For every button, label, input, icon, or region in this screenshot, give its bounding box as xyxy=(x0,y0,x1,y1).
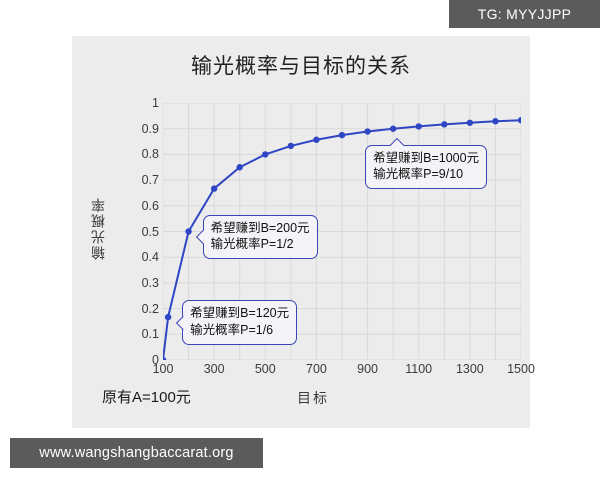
annotation-line-2: 输光概率P=9/10 xyxy=(373,166,479,183)
annotation-callout-b1000: 希望赚到B=1000元 输光概率P=9/10 xyxy=(365,145,487,190)
y-axis-tick-labels: 00.10.20.30.40.50.60.70.80.91 xyxy=(123,103,159,360)
x-axis-tick-label: 100 xyxy=(153,362,174,376)
chart-title: 输光概率与目标的关系 xyxy=(72,50,530,80)
data-point-marker xyxy=(390,126,396,132)
x-axis-tick-label: 700 xyxy=(306,362,327,376)
tg-watermark-text: TG: MYYJJPP xyxy=(478,6,572,22)
data-point-marker xyxy=(364,128,370,134)
annotation-line-1: 希望赚到B=1000元 xyxy=(373,150,479,167)
annotation-callout-b120: 希望赚到B=120元 输光概率P=1/6 xyxy=(182,300,297,345)
data-point-marker xyxy=(313,137,319,143)
y-axis-tick-label: 0.3 xyxy=(125,276,159,290)
y-axis-tick-label: 0.8 xyxy=(125,147,159,161)
y-axis-title: 输光概率 xyxy=(88,196,108,260)
data-point-marker xyxy=(185,228,191,234)
tg-watermark-badge: TG: MYYJJPP xyxy=(449,0,600,28)
initial-amount-note: 原有A=100元 xyxy=(102,386,191,407)
chart-panel: 输光概率与目标的关系 输光概率 目标 原有A=100元 00.10.20.30.… xyxy=(72,36,530,428)
data-point-marker xyxy=(339,132,345,138)
data-point-marker xyxy=(416,123,422,129)
x-axis-tick-label: 1500 xyxy=(507,362,535,376)
x-axis-tick-label: 900 xyxy=(357,362,378,376)
x-axis-tick-labels: 100300500700900110013001500 xyxy=(163,362,521,382)
annotation-callout-b200: 希望赚到B=200元 输光概率P=1/2 xyxy=(203,215,318,260)
y-axis-tick-label: 0.5 xyxy=(125,225,159,239)
annotation-line-1: 希望赚到B=200元 xyxy=(211,220,310,237)
annotation-line-1: 希望赚到B=120元 xyxy=(190,305,289,322)
x-axis-tick-label: 1100 xyxy=(405,362,432,376)
data-point-marker xyxy=(262,151,268,157)
x-axis-tick-label: 300 xyxy=(204,362,225,376)
y-axis-tick-label: 1 xyxy=(125,96,159,110)
y-axis-tick-label: 0.7 xyxy=(125,173,159,187)
y-axis-tick-label: 0.2 xyxy=(125,302,159,316)
data-point-marker xyxy=(467,120,473,126)
y-axis-tick-label: 0.1 xyxy=(125,327,159,341)
x-axis-title: 目标 xyxy=(297,388,329,408)
data-point-marker xyxy=(288,143,294,149)
data-point-marker xyxy=(492,118,498,124)
y-axis-tick-label: 0.4 xyxy=(125,250,159,264)
data-point-marker xyxy=(165,314,171,320)
site-watermark-text: www.wangshangbaccarat.org xyxy=(39,445,233,461)
y-axis-tick-label: 0.9 xyxy=(125,122,159,136)
x-axis-tick-label: 500 xyxy=(255,362,276,376)
data-point-marker xyxy=(237,164,243,170)
site-watermark-badge: www.wangshangbaccarat.org xyxy=(10,438,263,468)
y-axis-tick-label: 0.6 xyxy=(125,199,159,213)
annotation-line-2: 输光概率P=1/2 xyxy=(211,236,310,253)
data-point-marker xyxy=(441,121,447,127)
annotation-line-2: 输光概率P=1/6 xyxy=(190,322,289,339)
data-point-marker xyxy=(211,185,217,191)
x-axis-tick-label: 1300 xyxy=(456,362,484,376)
